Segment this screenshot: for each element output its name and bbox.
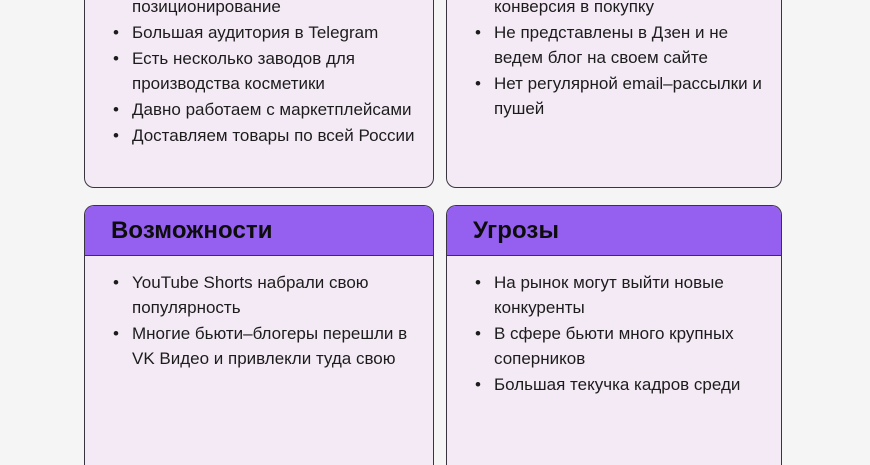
swot-card-header-threats: Угрозы bbox=[447, 206, 781, 256]
list-item: На рынок могут выйти новые конкуренты bbox=[471, 270, 763, 320]
swot-card-opportunities[interactable]: Возможности YouTube Shorts набрали свою … bbox=[84, 205, 434, 465]
swot-card-strengths[interactable]: позиционирование Большая аудитория в Tel… bbox=[84, 0, 434, 188]
bullet-list-weaknesses: конверсия в покупку Не представлены в Дз… bbox=[471, 0, 763, 121]
list-item: Не представлены в Дзен и не ведем блог н… bbox=[471, 20, 763, 70]
list-item: Давно работаем с маркетплейсами bbox=[109, 97, 415, 122]
list-item: Большая текучка кадров среди bbox=[471, 372, 763, 397]
list-item: Многие бьюти–блогеры перешли в VK Видео … bbox=[109, 321, 415, 371]
swot-card-body-opportunities: YouTube Shorts набрали свою популярность… bbox=[85, 256, 433, 386]
swot-card-header-opportunities: Возможности bbox=[85, 206, 433, 256]
list-item: Есть несколько заводов для производства … bbox=[109, 46, 415, 96]
list-item: позиционирование bbox=[109, 0, 415, 19]
swot-card-body-weaknesses: конверсия в покупку Не представлены в Дз… bbox=[447, 0, 781, 136]
list-item: конверсия в покупку bbox=[471, 0, 763, 19]
list-item: Доставляем товары по всей России bbox=[109, 123, 415, 148]
list-item: В сфере бьюти много крупных соперников bbox=[471, 321, 763, 371]
list-item: YouTube Shorts набрали свою популярность bbox=[109, 270, 415, 320]
swot-card-title-threats: Угрозы bbox=[473, 219, 559, 243]
bullet-list-threats: На рынок могут выйти новые конкуренты В … bbox=[471, 270, 763, 397]
swot-card-weaknesses[interactable]: конверсия в покупку Не представлены в Дз… bbox=[446, 0, 782, 188]
swot-board: позиционирование Большая аудитория в Tel… bbox=[0, 0, 870, 400]
swot-card-threats[interactable]: Угрозы На рынок могут выйти новые конкур… bbox=[446, 205, 782, 465]
bullet-list-opportunities: YouTube Shorts набрали свою популярность… bbox=[109, 270, 415, 371]
bullet-list-strengths: позиционирование Большая аудитория в Tel… bbox=[109, 0, 415, 148]
list-item: Большая аудитория в Telegram bbox=[109, 20, 415, 45]
list-item: Нет регулярной email–рассылки и пушей bbox=[471, 71, 763, 121]
swot-card-body-strengths: позиционирование Большая аудитория в Tel… bbox=[85, 0, 433, 163]
swot-card-title-opportunities: Возможности bbox=[111, 219, 273, 243]
swot-card-body-threats: На рынок могут выйти новые конкуренты В … bbox=[447, 256, 781, 412]
